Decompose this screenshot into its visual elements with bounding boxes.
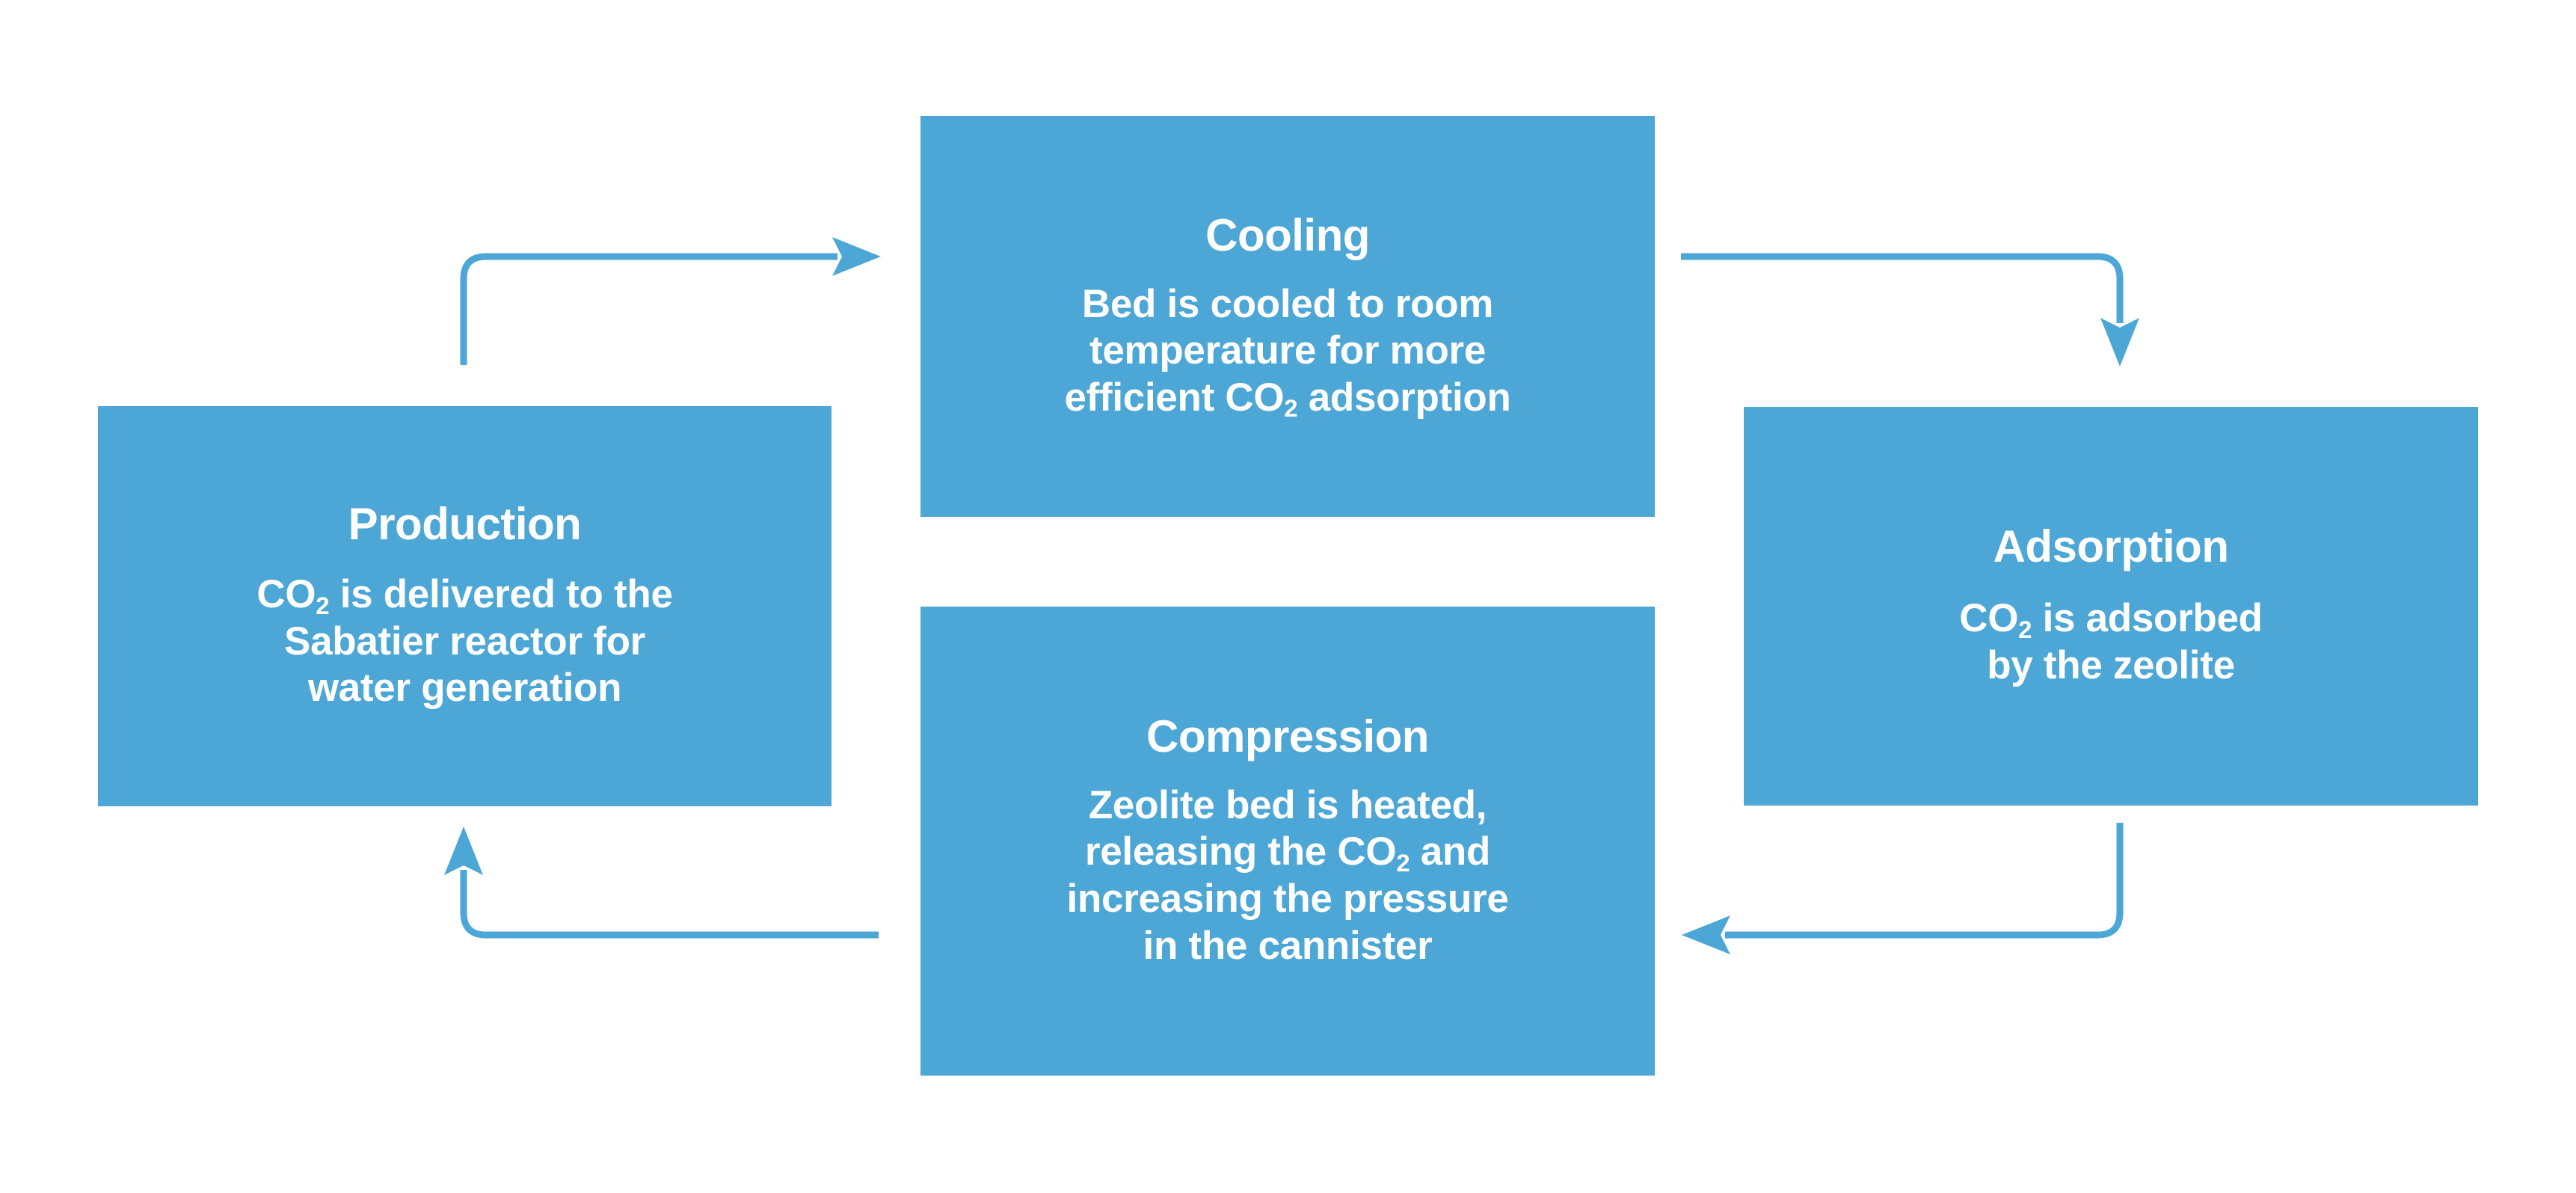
arrowhead-down-icon (2100, 318, 2139, 367)
stage-description-adsorption: CO2 is adsorbedby the zeolite (1959, 595, 2263, 689)
description-line: Bed is cooled to room (1064, 281, 1510, 328)
connector-production-to-cooling (464, 237, 881, 365)
stage-title-production: Production (348, 500, 582, 548)
arrowhead-right-icon (832, 237, 881, 276)
stage-box-adsorption[interactable]: Adsorption CO2 is adsorbedby the zeolite (1744, 407, 2478, 806)
stage-title-compression: Compression (1146, 713, 1429, 760)
connector-compression-to-production-line (464, 870, 879, 935)
description-line: by the zeolite (1959, 642, 2263, 690)
description-line: Zeolite bed is heated, (1066, 782, 1508, 829)
stage-description-cooling: Bed is cooled to roomtemperature for mor… (1064, 281, 1510, 422)
cycle-diagram: Production CO2 is delivered to theSabati… (0, 0, 2576, 1193)
description-line: releasing the CO2 and (1066, 829, 1508, 876)
stage-description-compression: Zeolite bed is heated,releasing the CO2 … (1066, 782, 1508, 969)
connector-cooling-to-adsorption-line (1681, 257, 2120, 323)
connector-compression-to-production (444, 826, 879, 935)
connector-cooling-to-adsorption (1681, 257, 2139, 367)
description-line: in the cannister (1066, 923, 1508, 970)
stage-box-cooling[interactable]: Cooling Bed is cooled to roomtemperature… (920, 116, 1655, 517)
connector-adsorption-to-compression-line (1725, 823, 2120, 935)
stage-box-production[interactable]: Production CO2 is delivered to theSabati… (98, 406, 831, 806)
arrowhead-up-icon (444, 826, 483, 875)
connector-production-to-cooling-line (464, 257, 837, 365)
connector-adsorption-to-compression (1682, 823, 2120, 954)
stage-title-adsorption: Adsorption (1994, 523, 2229, 570)
stage-title-cooling: Cooling (1205, 212, 1370, 259)
stage-description-production: CO2 is delivered to theSabatier reactor … (256, 571, 672, 712)
description-line: increasing the pressure (1066, 876, 1508, 923)
description-line: CO2 is delivered to the (256, 571, 672, 619)
description-line: CO2 is adsorbed (1959, 595, 2263, 642)
description-line: efficient CO2 adsorption (1064, 375, 1510, 422)
arrowhead-left-icon (1682, 916, 1730, 954)
description-line: Sabatier reactor for (256, 619, 672, 666)
description-line: temperature for more (1064, 328, 1510, 375)
stage-box-compression[interactable]: Compression Zeolite bed is heated,releas… (920, 607, 1655, 1076)
description-line: water generation (256, 665, 672, 712)
